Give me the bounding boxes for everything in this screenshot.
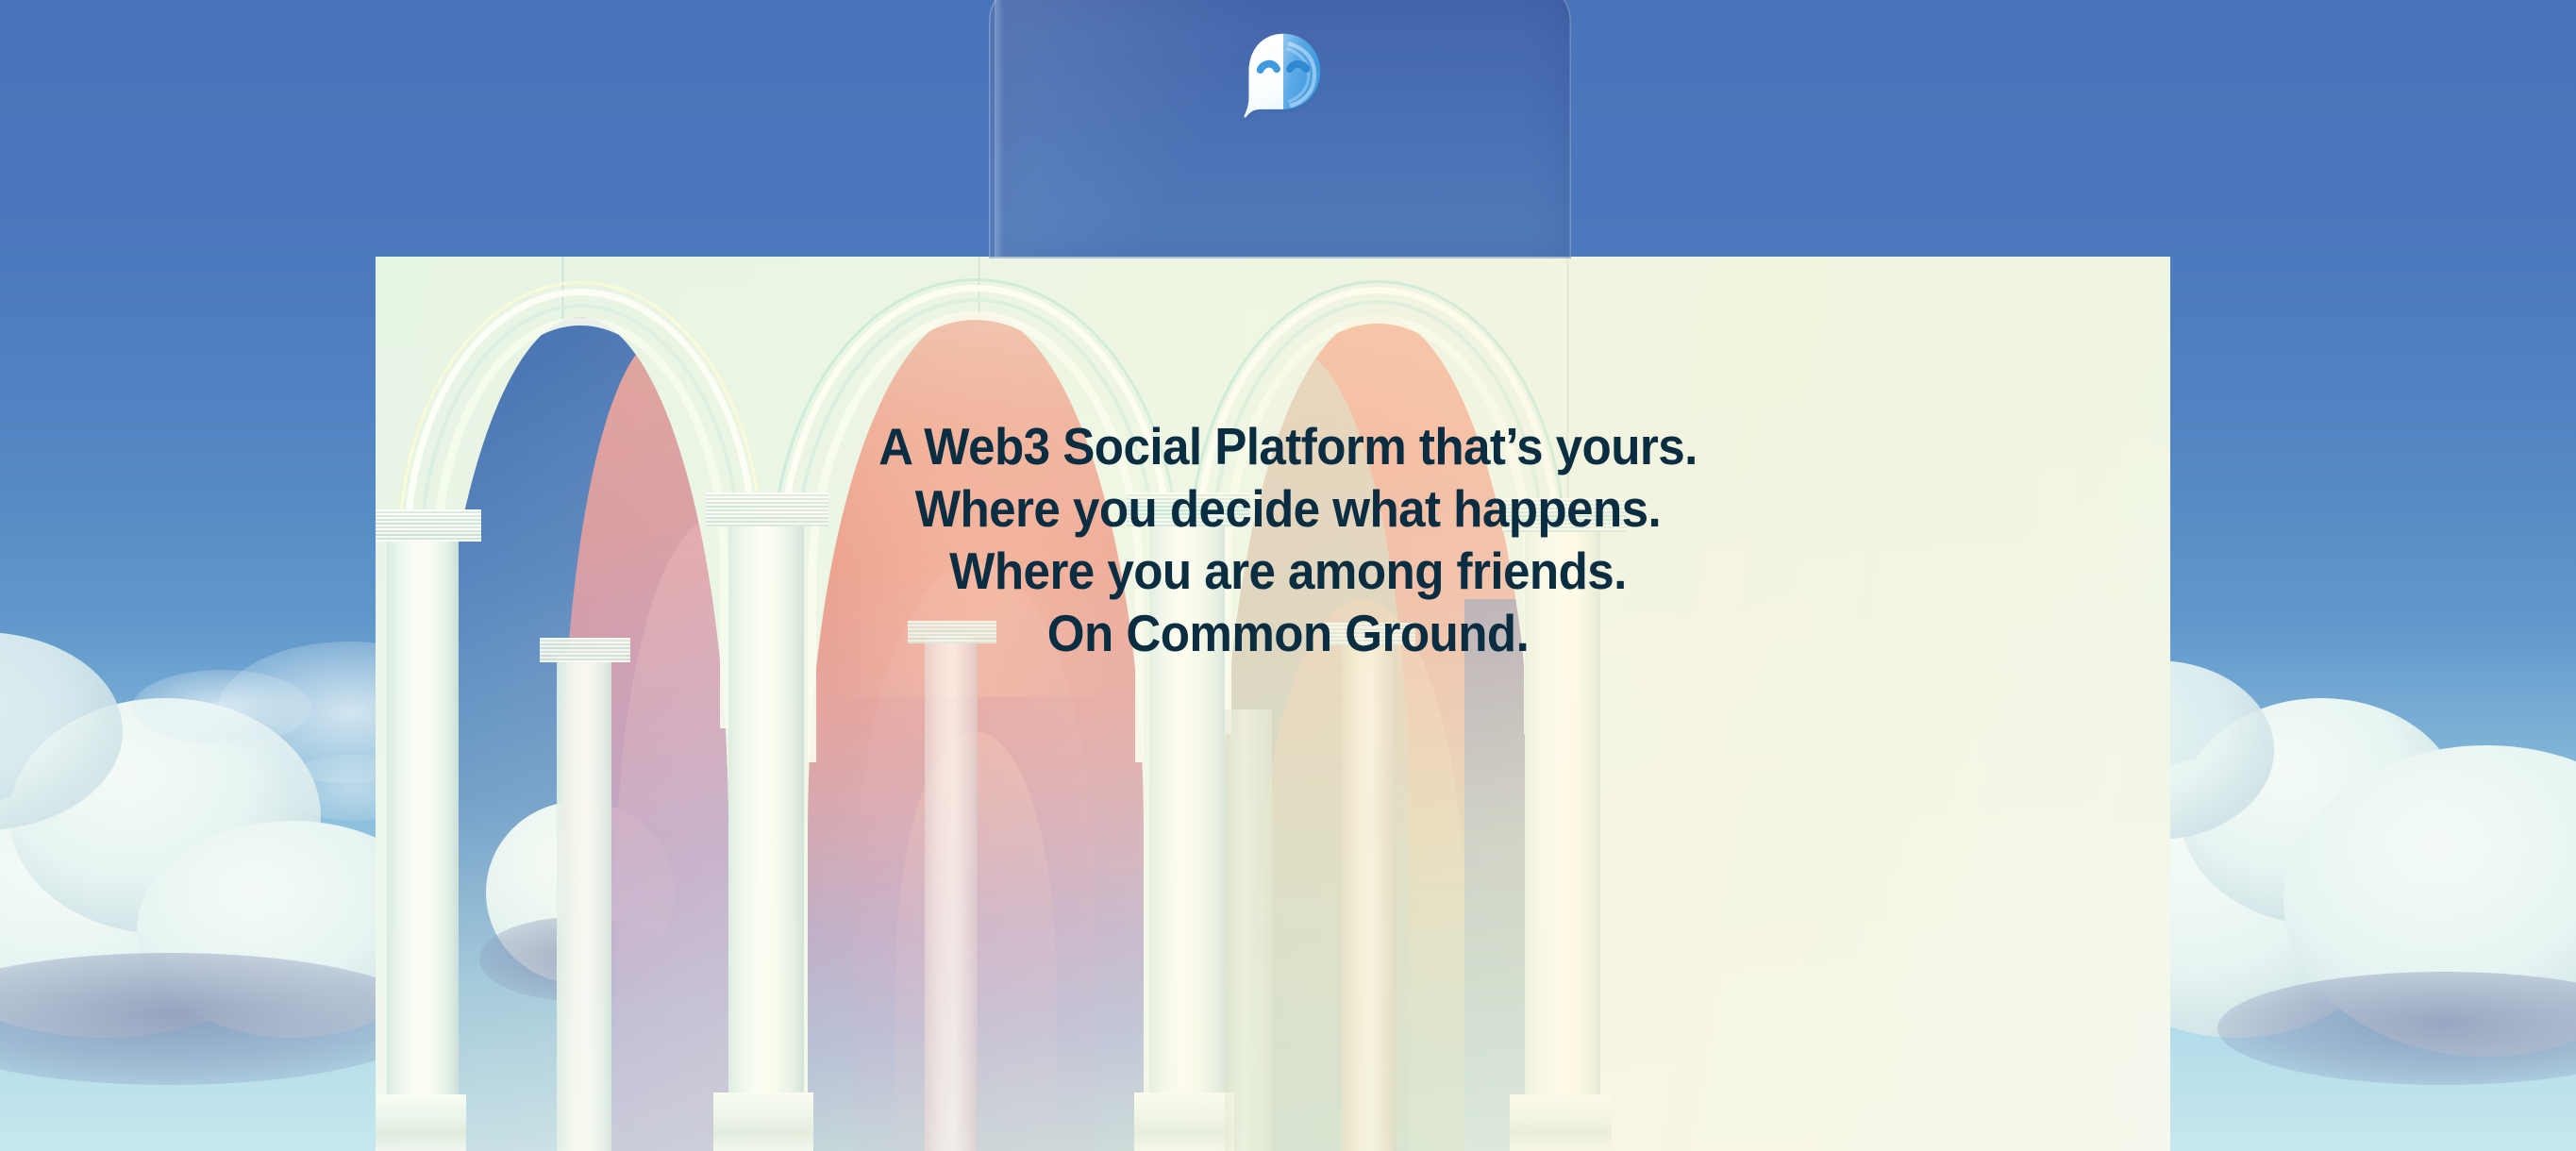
hero-headline: A Web3 Social Platform that’s yours. Whe… [91, 415, 2486, 664]
column-outer-4-base [1510, 1094, 1612, 1151]
speech-bubble-mask-logo[interactable] [1242, 32, 1325, 121]
headline-line-4: On Common Ground. [91, 602, 2486, 664]
cloud-bottom-right [2104, 604, 2576, 1132]
headline-line-2: Where you decide what happens. [91, 477, 2486, 540]
column-inner-1 [557, 655, 611, 1151]
headline-line-1: A Web3 Social Platform that’s yours. [91, 415, 2486, 477]
hero-banner: A Web3 Social Platform that’s yours. Whe… [0, 0, 2576, 1151]
logo-sign-panel [989, 0, 1571, 259]
column-inner-4 [1225, 709, 1272, 1151]
column-inner-3 [1342, 638, 1397, 1151]
cloud-wisp-upper-left [132, 670, 311, 745]
column-outer-1-base [376, 1094, 466, 1151]
headline-line-3: Where you are among friends. [91, 540, 2486, 602]
building-facade [376, 257, 2170, 1151]
column-outer-3-base [1134, 1093, 1234, 1151]
column-outer-2-base [713, 1093, 813, 1151]
column-inner-2 [925, 636, 978, 1151]
